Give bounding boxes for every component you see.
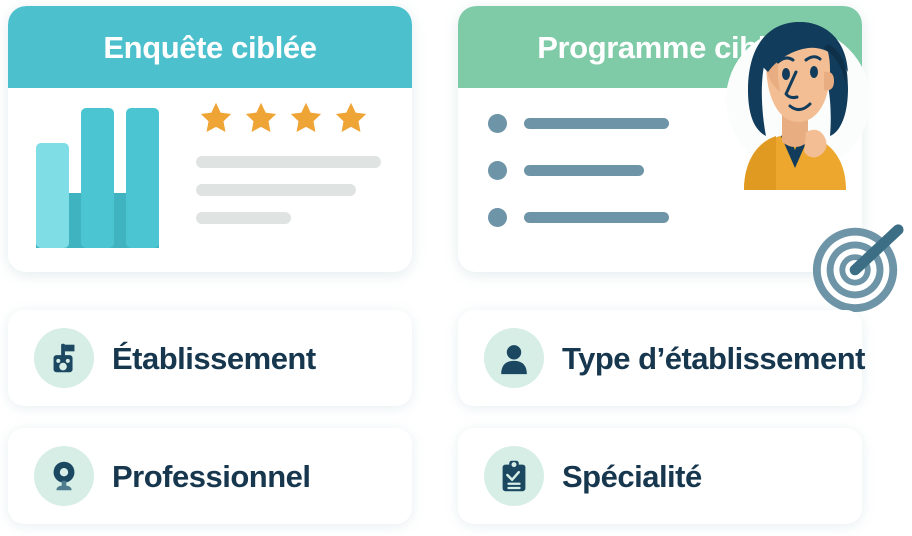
option-label: Professionnel: [112, 461, 311, 492]
rating-stars: [198, 100, 369, 136]
card-left-header: Enquête ciblée: [8, 6, 412, 88]
clipboard-check-icon: [484, 446, 544, 506]
option-row-type-etablissement[interactable]: Type d’établissement: [458, 310, 862, 406]
placeholder-lines: [196, 156, 381, 224]
placeholder-line: [196, 156, 381, 168]
card-programme-cible[interactable]: Programme ciblé: [458, 6, 862, 272]
card-left-inner: Enquête ciblée: [8, 6, 412, 272]
bullet-dot-icon: [488, 114, 507, 133]
option-row-professionnel[interactable]: Professionnel: [8, 428, 412, 524]
option-label: Type d’établissement: [562, 343, 865, 374]
star-icon: [243, 100, 279, 136]
option-row-etablissement[interactable]: Établissement: [8, 310, 412, 406]
placeholder-line: [196, 184, 356, 196]
list-item: [488, 208, 669, 227]
bullet-line: [524, 212, 669, 223]
bar-2: [81, 108, 114, 248]
comparison-board: Enquête ciblée: [0, 0, 912, 536]
target-dartboard-icon: [808, 216, 906, 314]
bullet-dot-icon: [488, 208, 507, 227]
bar-chart: [36, 193, 159, 248]
bullet-dot-icon: [488, 161, 507, 180]
user-person-icon: [484, 328, 544, 388]
bar-1: [36, 143, 69, 248]
list-item: [488, 114, 669, 133]
placeholder-line: [196, 212, 291, 224]
option-row-specialite[interactable]: Spécialité: [458, 428, 862, 524]
card-left-body: [8, 88, 412, 272]
stethoscope-head-icon: [34, 446, 94, 506]
building-flag-icon: [34, 328, 94, 388]
list-item: [488, 161, 669, 180]
card-left-title: Enquête ciblée: [103, 32, 316, 63]
option-label: Établissement: [112, 343, 316, 374]
option-label: Spécialité: [562, 461, 702, 492]
woman-avatar-illustration: [720, 0, 870, 190]
bullet-line: [524, 165, 644, 176]
bullet-line: [524, 118, 669, 129]
bullet-list: [488, 114, 669, 227]
card-enquete-ciblee[interactable]: Enquête ciblée: [8, 6, 412, 272]
bar-3: [126, 108, 159, 248]
star-icon: [288, 100, 324, 136]
star-icon: [333, 100, 369, 136]
star-icon: [198, 100, 234, 136]
